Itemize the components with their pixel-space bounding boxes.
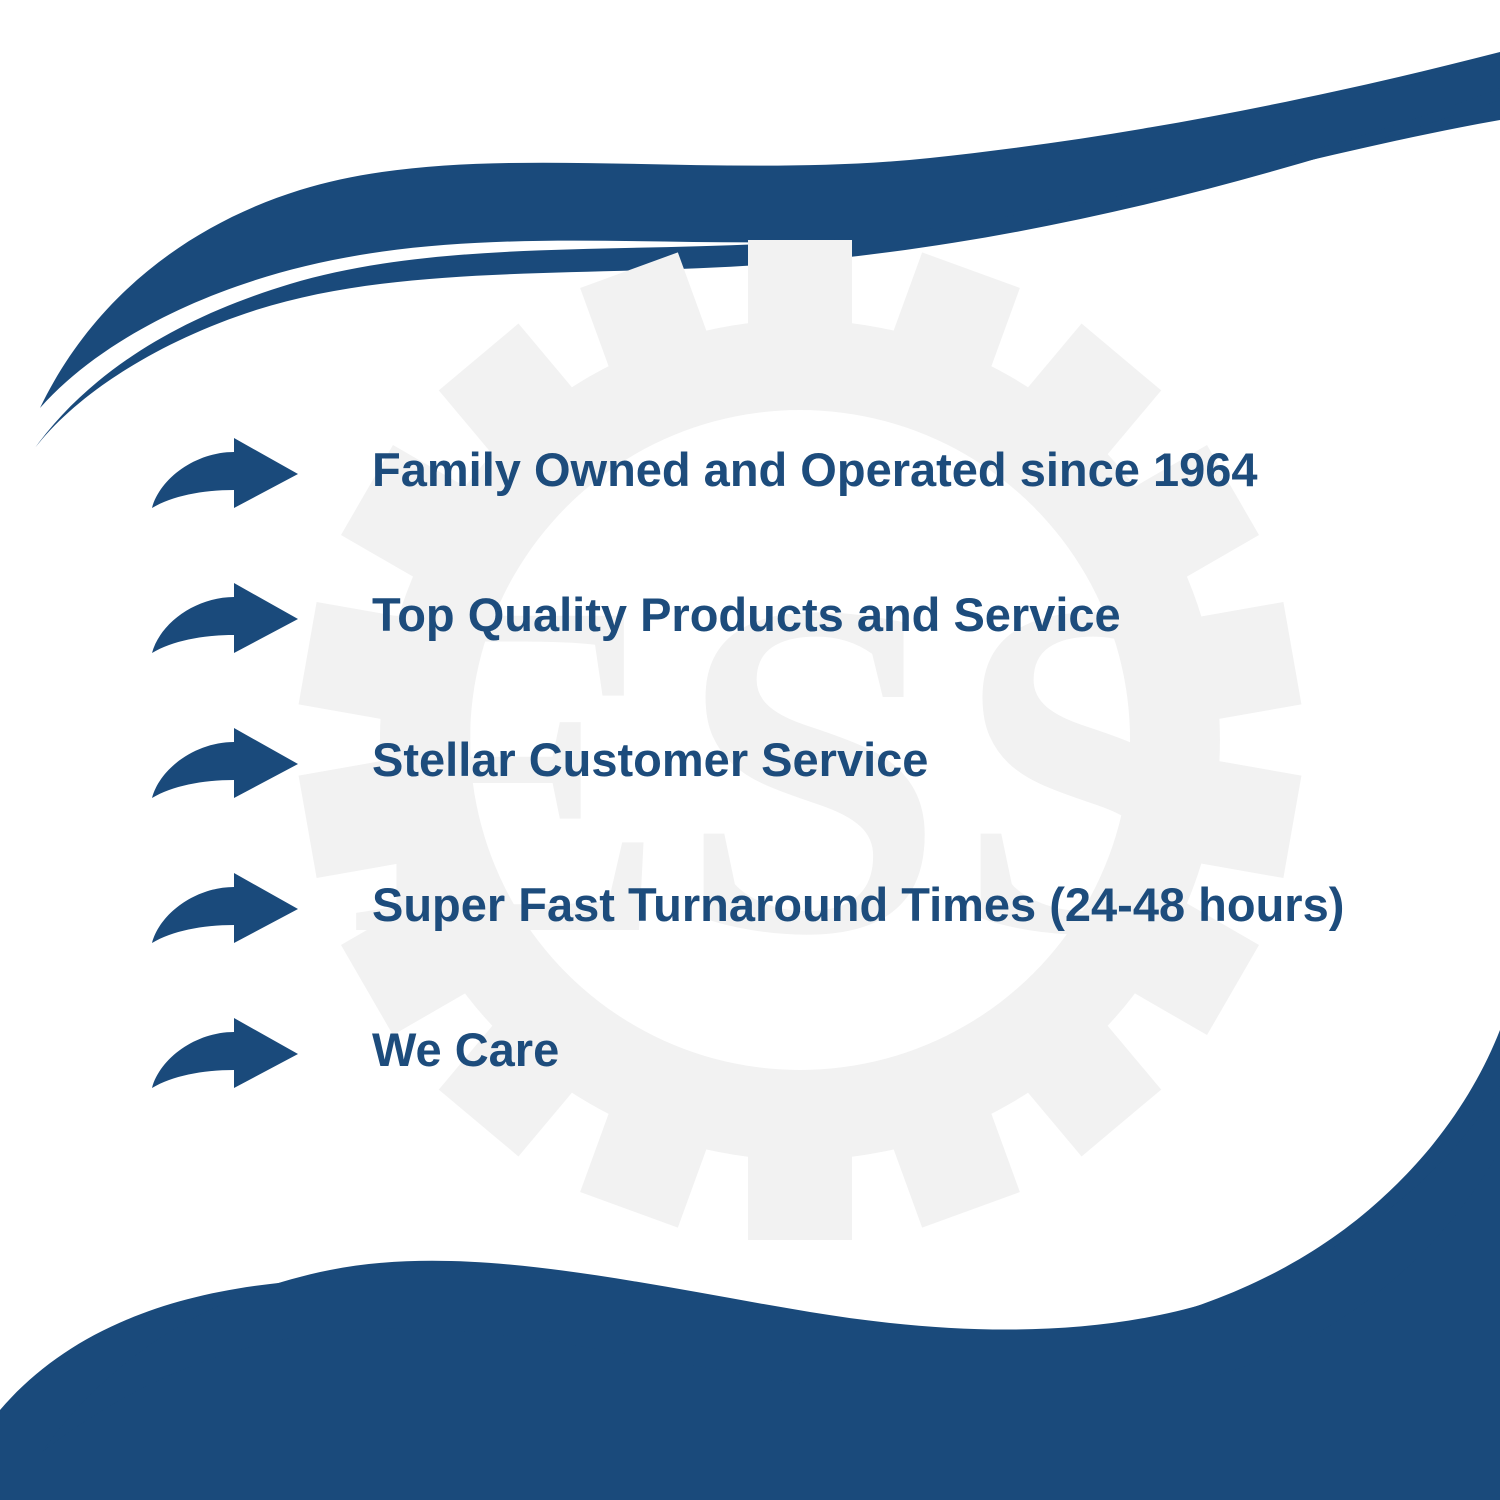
promo-graphic: ESS WHY SHOP WITH US Family Owned and Op… (0, 0, 1500, 1500)
curved-arrow-icon (150, 575, 320, 659)
curved-arrow-icon (150, 865, 320, 949)
list-item-label: Family Owned and Operated since 1964 (372, 430, 1500, 496)
benefits-list: Family Owned and Operated since 1964 Top… (0, 430, 1500, 1155)
list-item-label: Top Quality Products and Service (372, 575, 1500, 641)
list-item-label: Stellar Customer Service (372, 720, 1500, 786)
list-item: Family Owned and Operated since 1964 (0, 430, 1500, 575)
page-title: WHY SHOP WITH US (0, 14, 1500, 115)
list-item-label: We Care (372, 1010, 1500, 1076)
list-item: We Care (0, 1010, 1500, 1155)
curved-arrow-icon (150, 430, 320, 514)
list-item-label: Super Fast Turnaround Times (24-48 hours… (372, 865, 1500, 931)
curved-arrow-icon (150, 1010, 320, 1094)
curved-arrow-icon (150, 720, 320, 804)
list-item: Stellar Customer Service (0, 720, 1500, 865)
list-item: Top Quality Products and Service (0, 575, 1500, 720)
list-item: Super Fast Turnaround Times (24-48 hours… (0, 865, 1500, 1010)
